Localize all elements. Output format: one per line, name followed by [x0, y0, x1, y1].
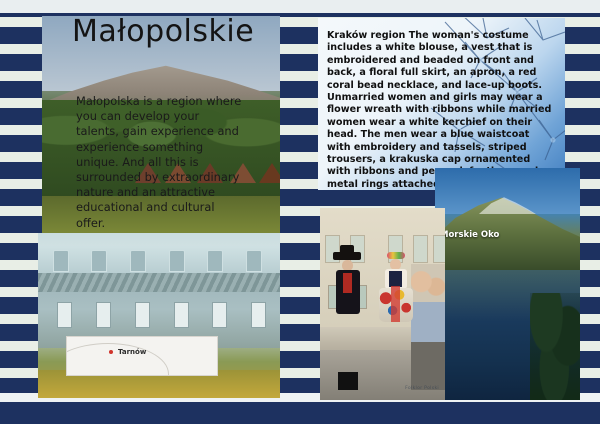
- map-marker-row: Tarnów: [109, 348, 146, 356]
- page-title: Małopolskie: [72, 14, 254, 49]
- bottom-navy-band: [0, 402, 600, 424]
- top-margin-band: [0, 0, 600, 13]
- morskie-oko-photo: Morskie Oko: [435, 168, 580, 400]
- costume-man-figure: [331, 252, 365, 390]
- tarnow-label: Tarnów: [118, 348, 146, 356]
- krakuska-hat: [333, 252, 361, 260]
- morskie-oko-label: Morskie Oko: [440, 230, 499, 240]
- krakow-costume-paragraph: Kraków region The woman's costume includ…: [327, 30, 555, 190]
- costume-woman-figure: [375, 252, 417, 390]
- slide-canvas: Małopolskie Małopolska is a region where…: [0, 0, 600, 424]
- map-pin-icon: [109, 350, 113, 354]
- flower-wreath: [387, 252, 405, 259]
- tarnow-lower-windows: [38, 302, 280, 338]
- woman-apron-ribbon: [391, 286, 400, 322]
- folk-costume-photo: Folklor Polski: [320, 208, 445, 400]
- tarnow-map-inset: Tarnów: [66, 336, 218, 376]
- man-red-vest: [343, 273, 352, 293]
- intro-paragraph: Małopolska is a region where you can dev…: [76, 94, 244, 231]
- woman-embroidered-vest: [389, 271, 402, 287]
- tarnow-upper-windows: [38, 250, 280, 280]
- photo-watermark: Folklor Polski: [405, 386, 439, 391]
- man-boots: [338, 372, 358, 390]
- building-window: [433, 235, 446, 263]
- krakow-costume-text-panel: Kraków region The woman's costume includ…: [318, 18, 565, 190]
- tarnow-photo: Tarnów: [38, 233, 280, 398]
- morskie-oko-trees: [530, 293, 580, 400]
